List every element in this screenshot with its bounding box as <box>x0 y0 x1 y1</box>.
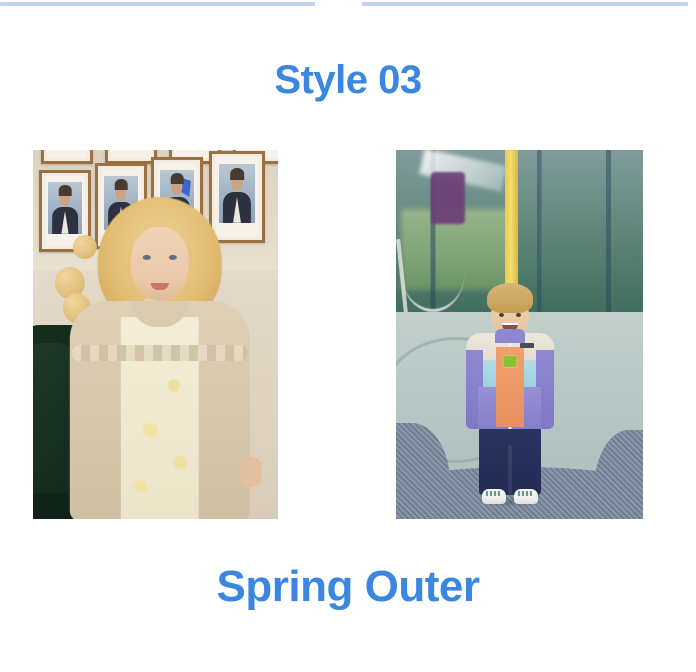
wall-portrait-frame <box>105 150 157 164</box>
swing-seat <box>401 231 465 312</box>
playground-scene <box>396 150 643 519</box>
divider-left <box>0 2 315 6</box>
boy-sneaker <box>514 489 538 504</box>
boy-subject <box>464 283 556 508</box>
top-divider-zone <box>0 0 696 8</box>
fleece-collar <box>495 329 525 343</box>
boy-navy-pants <box>479 423 541 495</box>
gallery-item-left[interactable] <box>33 150 278 519</box>
boy-sneaker <box>482 489 506 504</box>
style-slide: Style 03 <box>0 0 696 672</box>
girl-hand <box>239 457 261 487</box>
boy-hair <box>487 283 533 313</box>
photo-left-image <box>33 150 278 519</box>
divider-right <box>362 2 688 6</box>
fleece-chest-tag <box>520 343 534 348</box>
girl-subject <box>52 189 267 519</box>
purple-sign <box>431 172 466 224</box>
gallery-item-right[interactable] <box>396 150 643 519</box>
photo-right-image <box>396 150 643 519</box>
gallery-caption: Spring Outer <box>0 565 696 609</box>
shirt-badge <box>502 355 517 368</box>
page-title: Style 03 <box>0 60 696 100</box>
jacket-ruffle-trim <box>72 345 248 361</box>
wall-portrait-frame <box>41 150 93 164</box>
indoor-scene <box>33 150 278 519</box>
